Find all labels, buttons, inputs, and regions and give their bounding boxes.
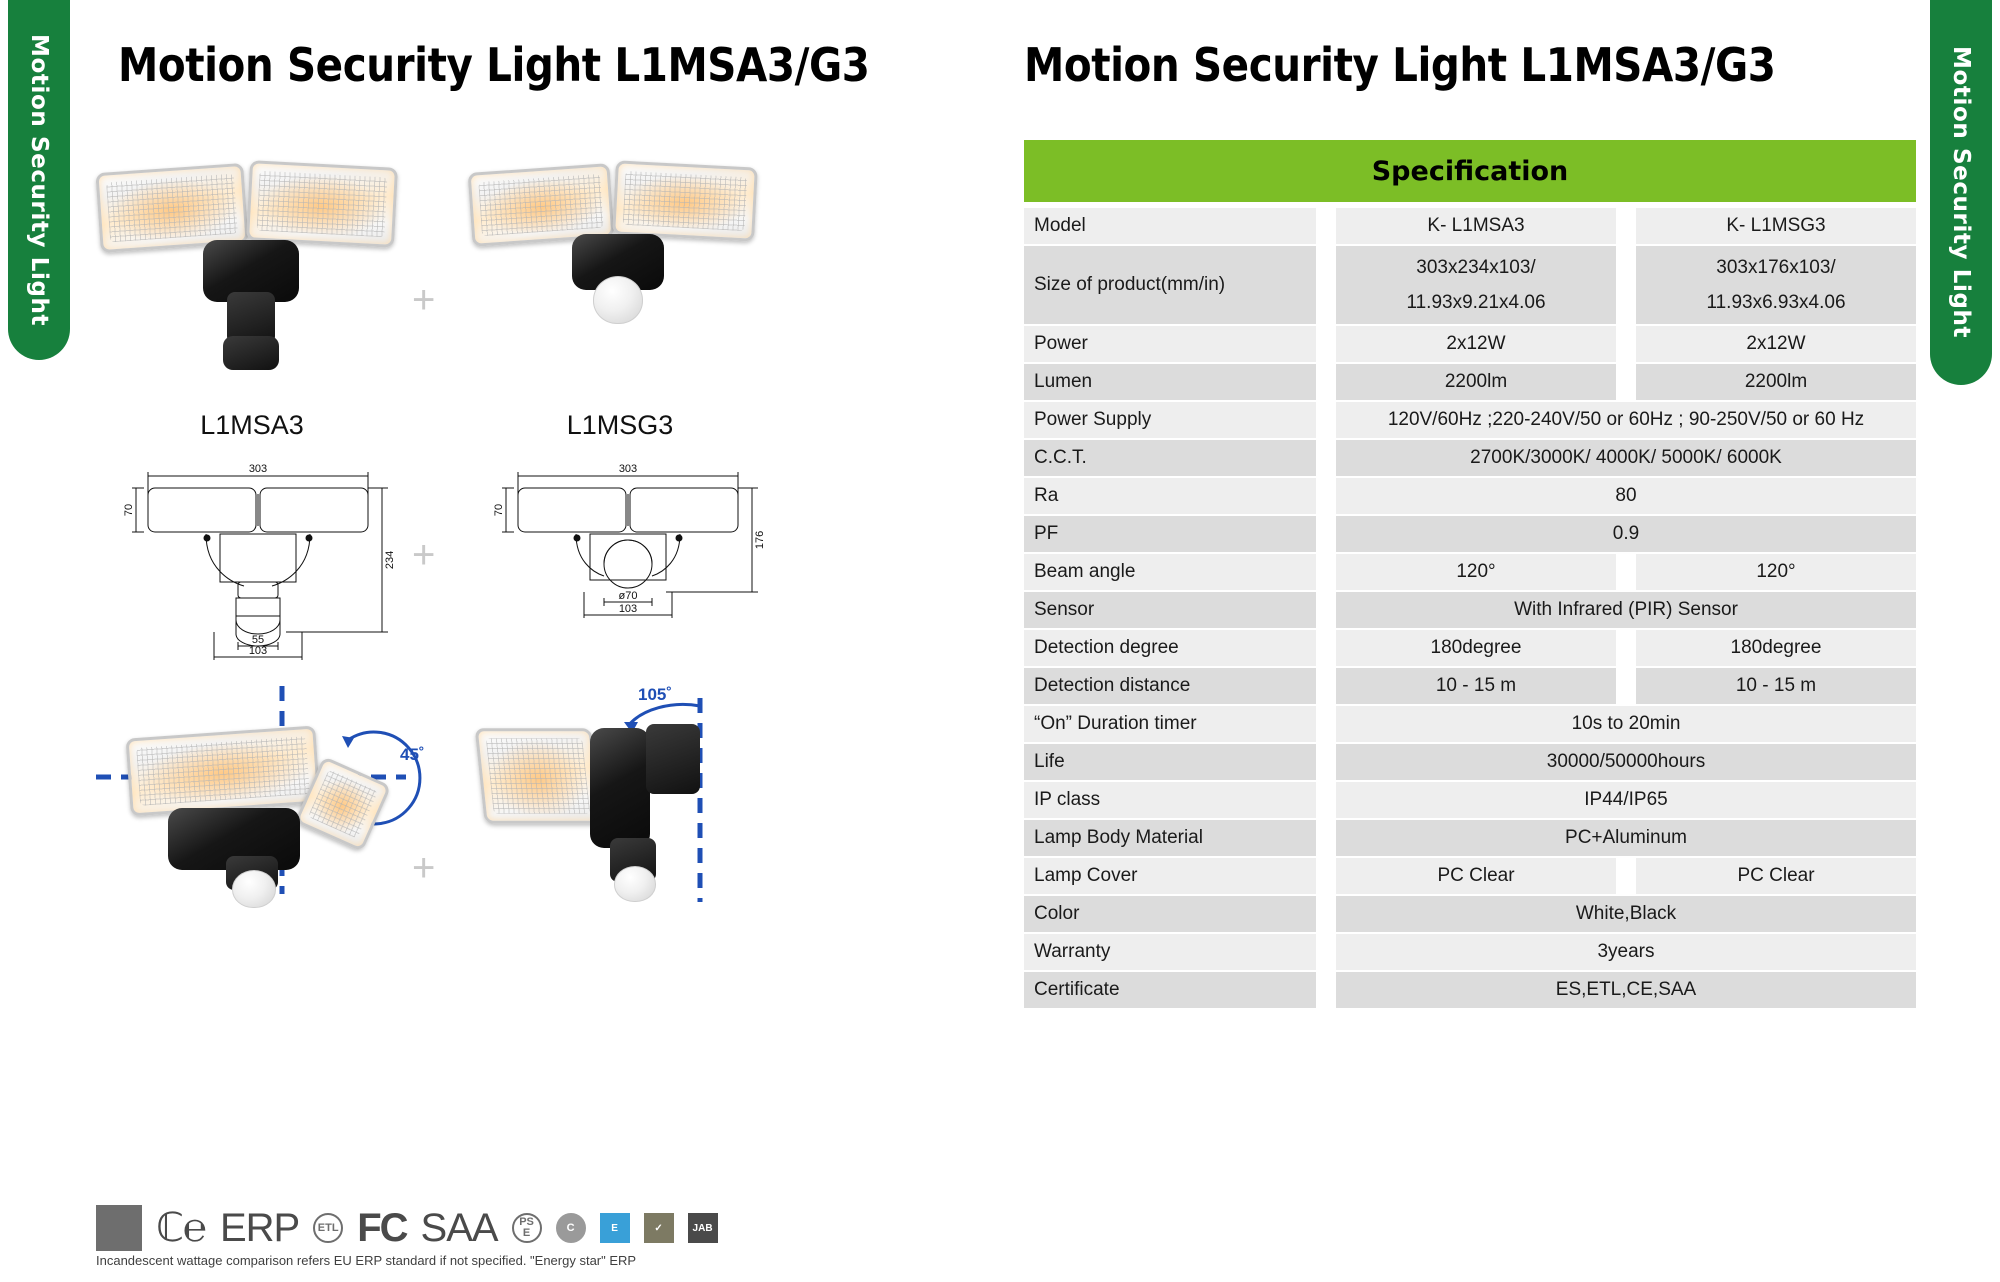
specification-header-label: Specification (1372, 156, 1569, 187)
lamp-body (590, 728, 650, 848)
spec-row-key: Power Supply (1024, 402, 1316, 438)
spec-row: Ra80 (1024, 478, 1916, 514)
spec-row-value: 3years (1336, 934, 1916, 970)
plus-separator-1: + (412, 280, 435, 320)
spec-cell-gap (1316, 554, 1336, 590)
spec-row-value: 303x176x103/11.93x6.93x4.06 (1636, 246, 1916, 324)
erp-icon: ERP (220, 1206, 299, 1251)
dim-head-height-70: 70 (493, 504, 505, 516)
spec-row: C.C.T.2700K/3000K/ 4000K/ 5000K/ 6000K (1024, 440, 1916, 476)
spec-cell-gap (1316, 934, 1336, 970)
spec-row-key: Lamp Body Material (1024, 820, 1316, 856)
spec-row-value: PC Clear (1336, 858, 1616, 894)
spec-row-key: C.C.T. (1024, 440, 1316, 476)
spec-row: Life30000/50000hours (1024, 744, 1916, 780)
specification-table-container: Specification ModelK- L1MSA3K- L1MSG3Siz… (1024, 140, 1916, 1010)
spec-row-value: IP44/IP65 (1336, 782, 1916, 818)
spec-row-key: Size of product(mm/in) (1024, 246, 1316, 324)
product-label-l1msa3: L1MSA3 (152, 410, 352, 441)
pse-icon: PSE (512, 1213, 542, 1243)
spec-row-value: 120V/60Hz ;220-240V/50 or 60Hz ; 90-250V… (1336, 402, 1916, 438)
mount-bracket (646, 724, 700, 794)
spec-row: SensorWith Infrared (PIR) Sensor (1024, 592, 1916, 628)
spec-row: Detection degree180degree180degree (1024, 630, 1916, 666)
spec-row-value: 2x12W (1336, 326, 1616, 362)
spec-row-value: 10 - 15 m (1336, 668, 1616, 704)
spec-row-key: Model (1024, 208, 1316, 244)
spec-row-key: PF (1024, 516, 1316, 552)
spec-cell-gap (1616, 858, 1636, 894)
dim-width-303: 303 (249, 463, 267, 475)
lamp-head-right (246, 160, 398, 248)
spec-cell-gap (1616, 364, 1636, 400)
sensor-housing (223, 336, 279, 370)
spec-row-value: 2200lm (1336, 364, 1616, 400)
certification-note: Incandescent wattage comparison refers E… (96, 1253, 718, 1268)
spec-row-value: ES,ETL,CE,SAA (1336, 972, 1916, 1008)
spec-row: PF0.9 (1024, 516, 1916, 552)
spec-row-key: Lamp Cover (1024, 858, 1316, 894)
spec-cell-gap (1316, 896, 1336, 932)
spec-row-value: PC Clear (1636, 858, 1916, 894)
product-photo-tilt-angle: 45˚ (90, 680, 430, 910)
spec-row-value: K- L1MSA3 (1336, 208, 1616, 244)
spec-row-value: 120° (1336, 554, 1616, 590)
spec-cell-gap (1316, 858, 1336, 894)
cert-leaf-icon: ✓ (644, 1213, 674, 1243)
product-label-l1msg3: L1MSG3 (520, 410, 720, 441)
spec-row-value: 303x234x103/11.93x9.21x4.06 (1336, 246, 1616, 324)
fc-icon: FC (357, 1206, 406, 1251)
spec-row: “On” Duration timer10s to 20min (1024, 706, 1916, 742)
tech-drawing-l1msa3: 303 70 234 55 103 (110, 460, 400, 660)
side-tab-left-label: Motion Security Light (26, 34, 52, 326)
spec-cell-gap (1316, 592, 1336, 628)
spec-cell-gap (1616, 630, 1636, 666)
angle-label-105: 105˚ (638, 685, 672, 704)
spec-cell-gap (1616, 326, 1636, 362)
product-photo-rotation-angle: 105˚ (460, 680, 790, 910)
tech-drawing-l1msg3: 303 70 176 ø70 103 (480, 460, 770, 660)
spec-row-key: Detection distance (1024, 668, 1316, 704)
page-title-left: Motion Security Light L1MSA3/G3 (118, 38, 869, 92)
plus-separator-3: + (412, 848, 435, 888)
pir-sensor-dome (593, 276, 643, 324)
spec-row-value: 2200lm (1636, 364, 1916, 400)
spec-row: Lamp Body MaterialPC+Aluminum (1024, 820, 1916, 856)
spec-cell-gap (1316, 820, 1336, 856)
spec-row: Power Supply120V/60Hz ;220-240V/50 or 60… (1024, 402, 1916, 438)
spec-row: Lamp CoverPC ClearPC Clear (1024, 858, 1916, 894)
product-photo-l1msa3 (90, 140, 410, 430)
spec-row-value: 2x12W (1636, 326, 1916, 362)
lamp-head-front (126, 725, 321, 816)
dim-base-103: 103 (249, 645, 267, 657)
spec-row-value: With Infrared (PIR) Sensor (1336, 592, 1916, 628)
spec-row: Beam angle120°120° (1024, 554, 1916, 590)
product-photo-l1msg3 (460, 140, 780, 430)
jab-icon: JAB (688, 1213, 718, 1243)
angle-label-45: 45˚ (400, 745, 425, 764)
specification-table-body: ModelK- L1MSA3K- L1MSG3Size of product(m… (1024, 208, 1916, 1008)
spec-row-key: Color (1024, 896, 1316, 932)
dim-width-303: 303 (619, 463, 637, 475)
spec-cell-gap (1616, 208, 1636, 244)
specification-header: Specification (1024, 140, 1916, 202)
spec-cell-gap (1616, 668, 1636, 704)
lamp-head-angled (475, 728, 602, 823)
side-tab-left: Motion Security Light (8, 0, 70, 360)
spec-cell-gap (1616, 554, 1636, 590)
certification-logo-row: ℂ℮ ERP ETL FC SAA PSE C E ✓ JAB (96, 1205, 718, 1251)
spec-cell-gap (1316, 744, 1336, 780)
spec-cell-gap (1616, 246, 1636, 324)
spec-row: Warranty3years (1024, 934, 1916, 970)
spec-row-value: 80 (1336, 478, 1916, 514)
spec-row-key: Sensor (1024, 592, 1316, 628)
spec-row: Lumen2200lm2200lm (1024, 364, 1916, 400)
spec-row-value: 180degree (1336, 630, 1616, 666)
dim-base-103: 103 (619, 603, 637, 615)
spec-row: Power2x12W2x12W (1024, 326, 1916, 362)
spec-cell-gap (1316, 364, 1336, 400)
spec-cell-gap (1316, 440, 1336, 476)
side-tab-right: Motion Security Light (1930, 0, 1992, 385)
spec-row-key: Warranty (1024, 934, 1316, 970)
spec-cell-gap (1316, 402, 1336, 438)
spec-row: Detection distance10 - 15 m10 - 15 m (1024, 668, 1916, 704)
spec-row-value: White,Black (1336, 896, 1916, 932)
specification-table: ModelK- L1MSA3K- L1MSG3Size of product(m… (1024, 206, 1916, 1010)
spec-cell-gap (1316, 668, 1336, 704)
dim-total-height-176: 176 (754, 531, 766, 549)
spec-cell-gap (1316, 326, 1336, 362)
spec-row-value: 2700K/3000K/ 4000K/ 5000K/ 6000K (1336, 440, 1916, 476)
spec-row: ColorWhite,Black (1024, 896, 1916, 932)
lamp-head-right (612, 160, 758, 241)
certification-footer: ℂ℮ ERP ETL FC SAA PSE C E ✓ JAB Incandes… (96, 1205, 718, 1268)
energy-icon: E (600, 1213, 630, 1243)
spec-cell-gap (1316, 630, 1336, 666)
spec-row-value: 10s to 20min (1336, 706, 1916, 742)
dim-dome-70: ø70 (619, 590, 638, 602)
spec-cell-gap (1316, 782, 1336, 818)
product-spec-sheet: Motion Security Light Motion Security Li… (0, 0, 2000, 1282)
spec-row-key: “On” Duration timer (1024, 706, 1316, 742)
saa-icon: SAA (421, 1206, 498, 1251)
ccc-icon: C (556, 1213, 586, 1243)
spec-row-key: Lumen (1024, 364, 1316, 400)
spec-row-value: 30000/50000hours (1336, 744, 1916, 780)
spec-row: ModelK- L1MSA3K- L1MSG3 (1024, 208, 1916, 244)
spec-row-key: Ra (1024, 478, 1316, 514)
ce-icon: ℂ℮ (156, 1205, 206, 1251)
spec-cell-gap (1316, 972, 1336, 1008)
spec-row-value: 0.9 (1336, 516, 1916, 552)
pir-sensor-dome (232, 870, 276, 908)
spec-row-value: PC+Aluminum (1336, 820, 1916, 856)
spec-row-value: 10 - 15 m (1636, 668, 1916, 704)
gray-block-icon (96, 1205, 142, 1251)
spec-row-key: Beam angle (1024, 554, 1316, 590)
spec-cell-gap (1316, 208, 1336, 244)
product-visuals-column: + L1MSA3 L1MSG3 (90, 110, 970, 1160)
spec-cell-gap (1316, 246, 1336, 324)
spec-row-key: Life (1024, 744, 1316, 780)
spec-cell-gap (1316, 516, 1336, 552)
page-title-right: Motion Security Light L1MSA3/G3 (1024, 38, 1775, 92)
spec-row: IP classIP44/IP65 (1024, 782, 1916, 818)
side-tab-right-label: Motion Security Light (1948, 46, 1974, 338)
pir-sensor-dome (614, 866, 656, 902)
spec-row-key: Certificate (1024, 972, 1316, 1008)
spec-row-key: IP class (1024, 782, 1316, 818)
spec-row: CertificateES,ETL,CE,SAA (1024, 972, 1916, 1008)
rotation-arc (628, 704, 700, 726)
dim-total-height-234: 234 (384, 551, 396, 569)
spec-row: Size of product(mm/in)303x234x103/11.93x… (1024, 246, 1916, 324)
dim-head-height-70: 70 (123, 504, 135, 516)
spec-row-value: 120° (1636, 554, 1916, 590)
etl-icon: ETL (313, 1213, 343, 1243)
plus-separator-2: + (412, 535, 435, 575)
spec-row-key: Power (1024, 326, 1316, 362)
spec-cell-gap (1316, 478, 1336, 514)
spec-cell-gap (1316, 706, 1336, 742)
spec-row-key: Detection degree (1024, 630, 1316, 666)
spec-row-value: K- L1MSG3 (1636, 208, 1916, 244)
spec-row-value: 180degree (1636, 630, 1916, 666)
